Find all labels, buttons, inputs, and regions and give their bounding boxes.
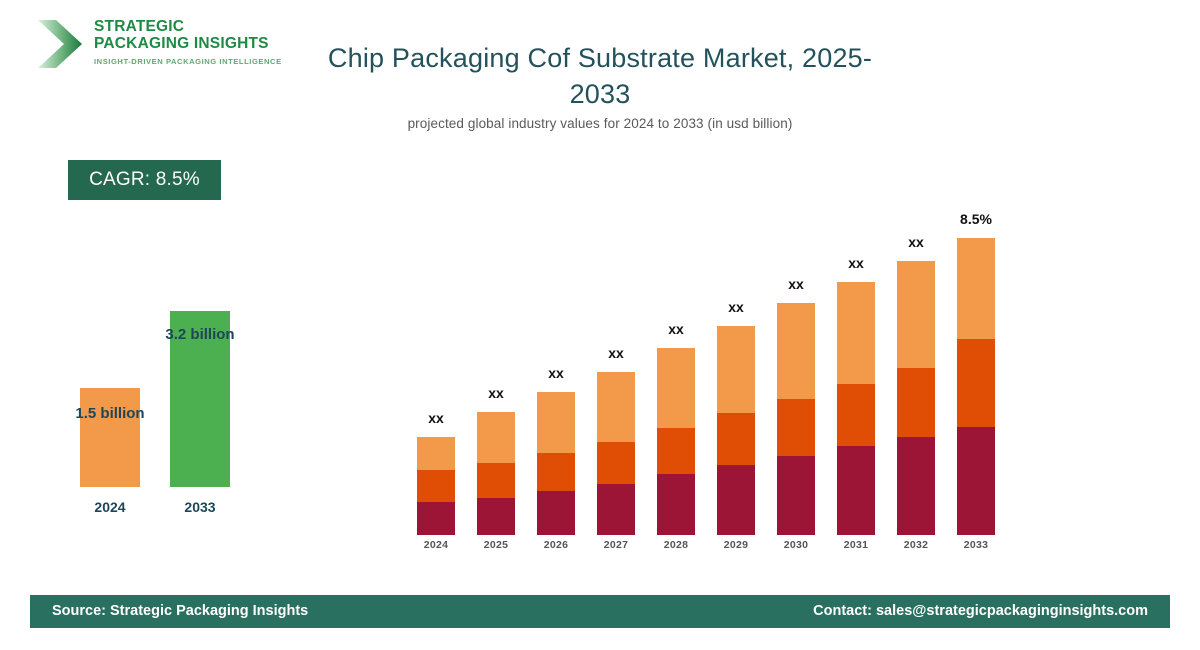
bar-segment-segment-2-2032 — [897, 368, 935, 437]
footer-source: Source: Strategic Packaging Insights — [52, 603, 308, 619]
bar-category-label-2026: 2026 — [526, 539, 586, 551]
bar-segment-segment-2-2033 — [957, 339, 995, 427]
stacked-bar-2025[interactable] — [477, 412, 515, 535]
bar-segment-segment-2-2027 — [597, 442, 635, 484]
bar-value-label-2032: xx — [886, 234, 946, 250]
bar-segment-segment-3-2033 — [957, 238, 995, 339]
bar-segment-segment-1-2029 — [717, 465, 755, 535]
bar-category-label-2029: 2029 — [706, 539, 766, 551]
bar-segment-segment-1-2024 — [417, 502, 455, 535]
stacked-bar-2031[interactable] — [837, 282, 875, 535]
bar-segment-segment-1-2026 — [537, 491, 575, 535]
bar-category-label-2032: 2032 — [886, 539, 946, 551]
bar-segment-segment-1-2030 — [777, 456, 815, 535]
bar-segment-segment-2-2024 — [417, 470, 455, 502]
bar-segment-segment-3-2031 — [837, 282, 875, 384]
bar-category-label-2028: 2028 — [646, 539, 706, 551]
bar-segment-segment-2-2030 — [777, 399, 815, 456]
bar-segment-segment-2-2028 — [657, 428, 695, 474]
bar-category-label-2024: 2024 — [406, 539, 466, 551]
stacked-bar-2028[interactable] — [657, 348, 695, 535]
stacked-bar-2029[interactable] — [717, 326, 755, 535]
bar-segment-segment-3-2024 — [417, 437, 455, 470]
bar-value-label-2028: xx — [646, 321, 706, 337]
bar-category-label-2030: 2030 — [766, 539, 826, 551]
stacked-bar-2027[interactable] — [597, 372, 635, 535]
bar-segment-segment-2-2026 — [537, 453, 575, 491]
bar-segment-segment-2-2031 — [837, 384, 875, 446]
stacked-bar-2024[interactable] — [417, 437, 455, 535]
bar-value-label-2027: xx — [586, 345, 646, 361]
footer-bar: Source: Strategic Packaging Insights Con… — [30, 595, 1170, 628]
bar-segment-segment-1-2025 — [477, 498, 515, 535]
bar-segment-segment-3-2030 — [777, 303, 815, 399]
infographic-canvas: STRATEGIC PACKAGING INSIGHTS INSIGHT-DRI… — [0, 0, 1200, 650]
stacked-bar-2026[interactable] — [537, 392, 575, 535]
bar-segment-segment-1-2028 — [657, 474, 695, 535]
bar-value-label-2024: xx — [406, 410, 466, 426]
bar-category-label-2027: 2027 — [586, 539, 646, 551]
bar-segment-segment-1-2032 — [897, 437, 935, 535]
bar-category-label-2031: 2031 — [826, 539, 886, 551]
bar-segment-segment-3-2026 — [537, 392, 575, 453]
bar-segment-segment-1-2031 — [837, 446, 875, 535]
bar-category-label-2033: 2033 — [946, 539, 1006, 551]
bar-segment-segment-3-2025 — [477, 412, 515, 463]
bar-segment-segment-3-2028 — [657, 348, 695, 428]
bar-value-label-2025: xx — [466, 385, 526, 401]
bar-segment-segment-1-2027 — [597, 484, 635, 535]
bar-segment-segment-3-2029 — [717, 326, 755, 413]
bar-value-label-2029: xx — [706, 299, 766, 315]
footer-contact: Contact: sales@strategicpackaginginsight… — [813, 603, 1148, 619]
bar-segment-segment-2-2025 — [477, 463, 515, 498]
bar-value-label-2033: 8.5% — [946, 211, 1006, 227]
bar-value-label-2031: xx — [826, 255, 886, 271]
bar-segment-segment-3-2032 — [897, 261, 935, 368]
bar-category-label-2025: 2025 — [466, 539, 526, 551]
bar-value-label-2030: xx — [766, 276, 826, 292]
stacked-bar-2033[interactable] — [957, 238, 995, 535]
bar-segment-segment-3-2027 — [597, 372, 635, 442]
stacked-bar-2032[interactable] — [897, 261, 935, 535]
stacked-forecast-chart: xx2024xx2025xx2026xx2027xx2028xx2029xx20… — [0, 0, 1200, 600]
bar-segment-segment-2-2029 — [717, 413, 755, 465]
bar-value-label-2026: xx — [526, 365, 586, 381]
stacked-bar-2030[interactable] — [777, 303, 815, 535]
bar-segment-segment-1-2033 — [957, 427, 995, 535]
